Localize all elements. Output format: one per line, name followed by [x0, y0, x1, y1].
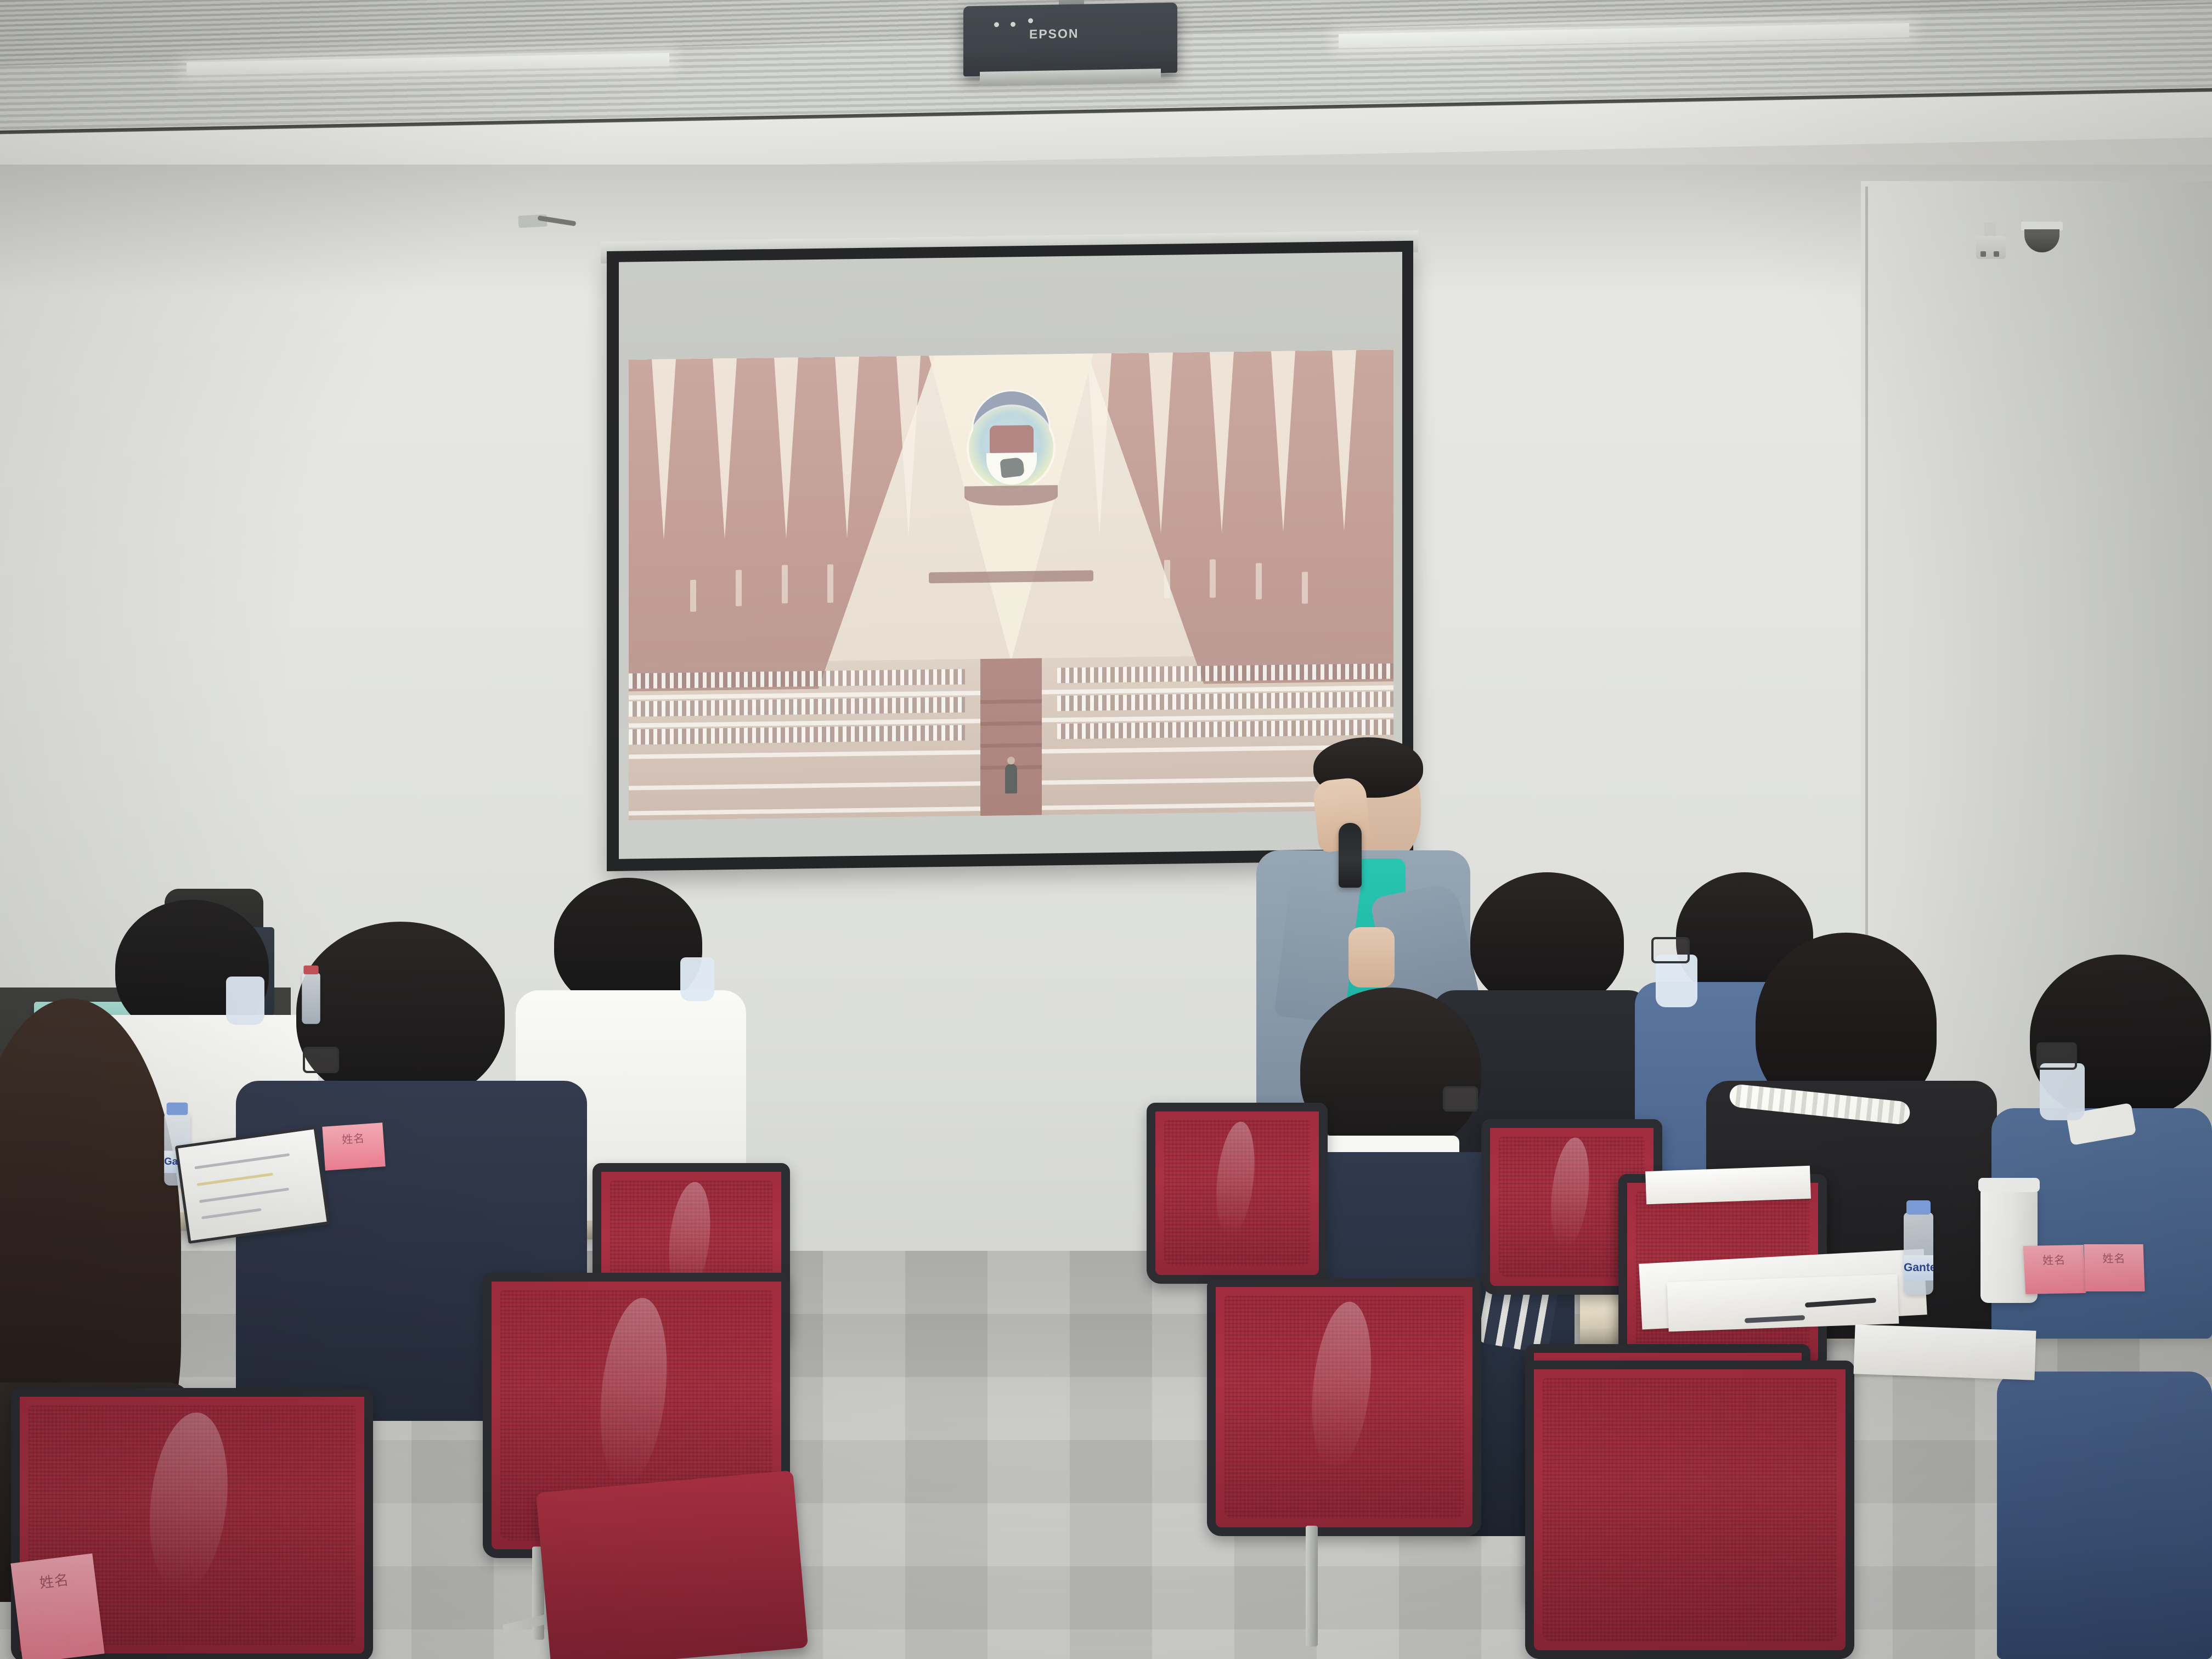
- red-mesh-chair-10[interactable]: [1525, 1361, 1854, 1659]
- slide-slat-2: [736, 570, 742, 606]
- face-mask: [680, 957, 714, 1001]
- glasses-icon: [1651, 937, 1690, 963]
- slide-person-on-aisle: [1005, 764, 1017, 793]
- slide-podium-shelf: [929, 570, 1093, 583]
- name-card-text: 姓名: [2023, 1251, 2085, 1268]
- slide-beam-5: [896, 356, 921, 538]
- projector-led-temp: [1028, 18, 1033, 23]
- slide-aisle-step-1: [980, 699, 1042, 703]
- water-bottle-right[interactable]: Ganten: [1904, 1212, 1933, 1295]
- slide-slat-7: [1256, 563, 1262, 600]
- bottle-cap: [303, 966, 318, 974]
- slide-slat-3: [782, 565, 788, 603]
- projector-brand-label: EPSON: [1029, 26, 1079, 42]
- glasses-icon: [1443, 1086, 1478, 1111]
- presenter-hand-left: [1348, 927, 1395, 988]
- name-card-text: 姓名: [2084, 1250, 2144, 1266]
- slide-beam-7: [1149, 352, 1173, 534]
- laptop-text-line: [197, 1173, 273, 1186]
- laptop[interactable]: [175, 1126, 330, 1244]
- bottle-label: Ganten: [1904, 1255, 1933, 1280]
- chair-leg: [1306, 1526, 1318, 1646]
- slide-aisle-step-3: [980, 743, 1042, 747]
- hair: [296, 922, 505, 1103]
- red-mesh-chair-6[interactable]: [1207, 1278, 1481, 1536]
- attendee-foreground-right: [1997, 1372, 2212, 1659]
- slide-slat-8: [1302, 572, 1308, 603]
- slide-beam-1: [652, 359, 676, 540]
- slide-slat-1: [690, 580, 696, 612]
- slide-beam-10: [1332, 350, 1356, 532]
- name-card-right-2[interactable]: 姓名: [2084, 1244, 2145, 1291]
- chair-backrest: [1147, 1103, 1328, 1284]
- name-card-text: 姓名: [323, 1128, 384, 1148]
- laptop-text-line: [201, 1208, 262, 1219]
- name-card-foreground-left[interactable]: 姓名: [10, 1554, 104, 1659]
- cppcc-emblem: [964, 391, 1058, 501]
- papers-right-back[interactable]: [1645, 1166, 1811, 1204]
- slide-seat-block-l1: [629, 669, 965, 689]
- ceiling-projector: EPSON: [963, 3, 1177, 77]
- water-bottle-back-left[interactable]: [302, 973, 320, 1024]
- name-card-right-1[interactable]: 姓名: [2023, 1245, 2086, 1294]
- chair-backrest: [1525, 1361, 1854, 1659]
- chair-mesh: [1543, 1378, 1837, 1641]
- slide-seat-block-r3: [1057, 720, 1393, 740]
- bottle-cap: [167, 1103, 188, 1115]
- glasses-icon: [303, 1047, 339, 1073]
- slide-beam-9: [1271, 351, 1295, 533]
- tumbler-lid: [1978, 1178, 2040, 1192]
- glasses-icon: [2036, 1042, 2077, 1070]
- slide-slat-6: [1210, 559, 1216, 597]
- red-mesh-chair-1[interactable]: [1147, 1103, 1328, 1284]
- torso: [1997, 1372, 2212, 1659]
- slide-slat-5: [1164, 560, 1170, 599]
- face-mask: [2040, 1063, 2085, 1120]
- slide-seat-block-l3: [629, 725, 965, 745]
- slide-beam-4: [835, 357, 859, 538]
- chair-backrest: [1207, 1278, 1481, 1536]
- slide-seat-block-r2: [1057, 691, 1393, 711]
- slide-seat-block-l2: [629, 697, 965, 716]
- slide-seat-block-r1: [1057, 663, 1393, 683]
- laptop-text-line: [199, 1187, 289, 1203]
- ceiling-speaker: [1976, 236, 2006, 259]
- name-card-left[interactable]: 姓名: [322, 1122, 385, 1170]
- name-card-text: 姓名: [12, 1565, 96, 1595]
- conference-room-photo: EPSON: [0, 0, 2212, 1659]
- projector-led-power: [994, 22, 999, 27]
- slide-beam-3: [774, 357, 798, 539]
- handheld-microphone: [1339, 823, 1362, 888]
- emblem-map-icon: [1000, 457, 1024, 478]
- projector-led-lamp: [1011, 22, 1015, 27]
- slide-beam-8: [1210, 352, 1234, 533]
- slide-beam-2: [713, 358, 737, 540]
- papers-right-front[interactable]: [1854, 1324, 2036, 1380]
- laptop-text-line: [194, 1153, 290, 1169]
- bottle-cap: [1906, 1200, 1931, 1215]
- slide-slat-4: [827, 565, 833, 603]
- chair-seat-foreground[interactable]: [536, 1470, 808, 1659]
- slide-aisle-step-2: [980, 721, 1042, 725]
